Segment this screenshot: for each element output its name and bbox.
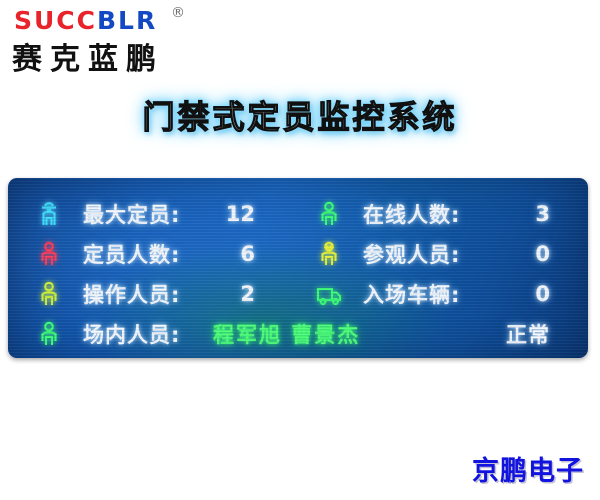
truck-icon: [314, 279, 344, 309]
footer-company-name: 京鹏电子: [472, 449, 584, 488]
led-row-onsite-personnel: 场内人员: 程军旭 曹景杰: [8, 314, 288, 354]
led-value-online-count: 3: [535, 202, 550, 226]
led-row-status: 正常: [288, 314, 588, 354]
brand-chinese-name: 赛克蓝鹏: [12, 34, 164, 78]
led-label-visitor-count: 参观人员:: [363, 239, 460, 269]
led-label-operator-count: 操作人员:: [83, 279, 180, 309]
person-icon: [34, 239, 64, 269]
led-value-vehicle-count: 0: [535, 282, 550, 306]
led-display-panel: 最大定员: 12 在线人数: 3: [8, 178, 588, 358]
brand-wordmark-blue: BLR: [97, 6, 157, 35]
led-label-onsite-personnel: 场内人员:: [83, 319, 180, 349]
brand-wordmark-red: SUCC: [14, 6, 97, 35]
led-row-online-count: 在线人数: 3: [288, 194, 588, 234]
person-icon: [34, 279, 64, 309]
led-value-visitor-count: 0: [535, 242, 550, 266]
led-row-max-capacity: 最大定员: 12: [8, 194, 288, 234]
led-label-max-capacity: 最大定员:: [83, 199, 180, 229]
registered-trademark-icon: ®: [171, 6, 185, 20]
led-row-assigned-count: 定员人数: 6: [8, 234, 288, 274]
person-face-icon: [314, 239, 344, 269]
page-title: 门禁式定员监控系统: [0, 92, 600, 138]
brand-logo: SUCCBLR ® 赛克蓝鹏: [8, 4, 248, 76]
led-row-vehicle-count: 入场车辆: 0: [288, 274, 588, 314]
brand-wordmark: SUCCBLR: [14, 6, 157, 35]
status-badge: 正常: [506, 319, 550, 349]
person-icon: [34, 319, 64, 349]
led-label-vehicle-count: 入场车辆:: [363, 279, 460, 309]
led-value-max-capacity: 12: [226, 202, 255, 226]
led-row-operator-count: 操作人员: 2: [8, 274, 288, 314]
led-row-visitor-count: 参观人员: 0: [288, 234, 588, 274]
person-helmet-icon: [34, 199, 64, 229]
led-label-assigned-count: 定员人数:: [83, 239, 180, 269]
led-label-online-count: 在线人数:: [363, 199, 460, 229]
led-value-assigned-count: 6: [240, 242, 255, 266]
person-icon: [314, 199, 344, 229]
led-value-operator-count: 2: [240, 282, 255, 306]
